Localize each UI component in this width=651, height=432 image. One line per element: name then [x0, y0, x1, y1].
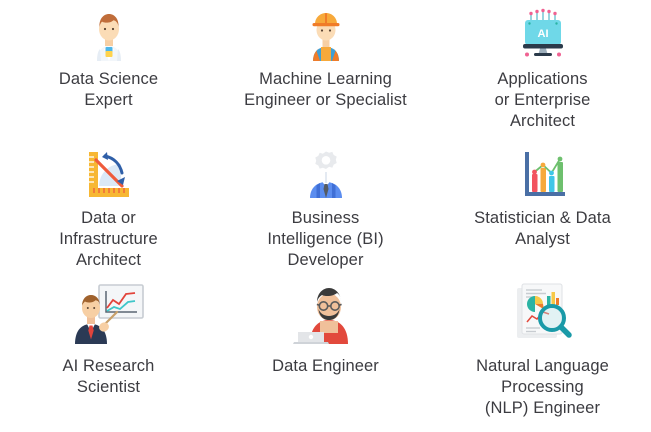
- report-magnifier-icon: [504, 280, 582, 346]
- role-label: Data Engineer: [272, 356, 379, 377]
- infographic-root: Data Science Expert Machi: [0, 0, 651, 432]
- worker-hard-hat-icon: [295, 6, 357, 64]
- svg-text:AI: AI: [537, 28, 548, 40]
- role-label: Applications or Enterprise Architect: [495, 69, 591, 132]
- role-label: Data or Infrastructure Architect: [59, 208, 158, 271]
- role-card-applications-enterprise-architect[interactable]: AI Applications or Enterprise Architect: [434, 0, 651, 139]
- role-card-data-engineer[interactable]: Data Engineer: [217, 274, 434, 432]
- role-label: Natural Language Processing (NLP) Engine…: [476, 356, 609, 419]
- role-card-business-intelligence-developer[interactable]: Business Intelligence (BI) Developer: [217, 139, 434, 274]
- ruler-compass-architect-icon: [78, 145, 140, 203]
- role-label: Statistician & Data Analyst: [474, 208, 611, 250]
- bar-line-chart-icon: [512, 145, 574, 203]
- role-card-data-science-expert[interactable]: Data Science Expert: [0, 0, 217, 139]
- scientist-lab-coat-icon: [78, 6, 140, 64]
- gear-head-businessman-icon: [295, 145, 357, 203]
- role-card-statistician-data-analyst[interactable]: Statistician & Data Analyst: [434, 139, 651, 274]
- role-label: Data Science Expert: [59, 69, 158, 111]
- role-card-nlp-engineer[interactable]: Natural Language Processing (NLP) Engine…: [434, 274, 651, 432]
- ai-monitor-chip-icon: AI: [512, 6, 574, 64]
- role-label: Business Intelligence (BI) Developer: [267, 208, 383, 271]
- role-label: Machine Learning Engineer or Specialist: [244, 69, 407, 111]
- role-card-machine-learning-engineer[interactable]: Machine Learning Engineer or Specialist: [217, 0, 434, 139]
- role-card-ai-research-scientist[interactable]: AI Research Scientist: [0, 274, 217, 432]
- presenter-whiteboard-icon: [70, 280, 148, 346]
- role-label: AI Research Scientist: [63, 356, 155, 398]
- role-card-data-infrastructure-architect[interactable]: Data or Infrastructure Architect: [0, 139, 217, 274]
- roles-grid: Data Science Expert Machi: [0, 0, 651, 432]
- developer-laptop-icon: [287, 280, 365, 346]
